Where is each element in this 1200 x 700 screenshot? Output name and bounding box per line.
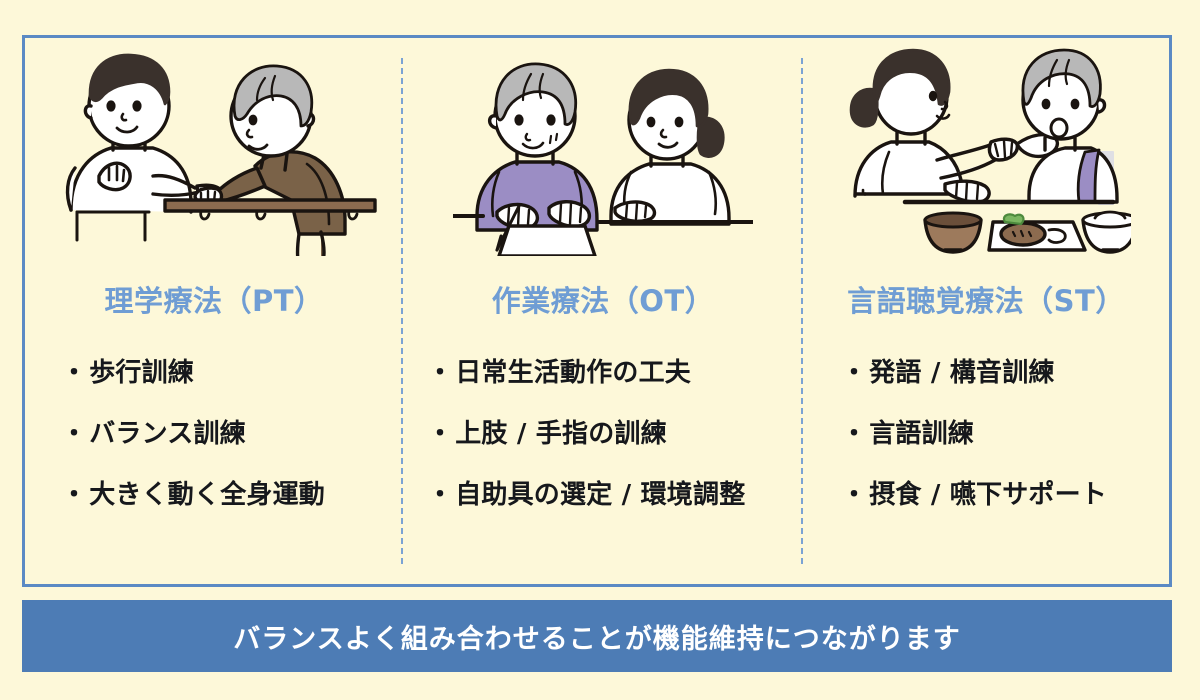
list-item: ・ 日常生活動作の工夫 [427,352,803,389]
physical-therapy-parallel-bars-illustration [25,38,403,256]
list-item-label: 摂食 / 嚥下サポート [869,474,1107,511]
list-item: ・ 歩行訓練 [61,352,403,389]
list-item-label: 言語訓練 [869,413,974,450]
list-item-label: 日常生活動作の工夫 [455,352,691,389]
list-item: ・ 言語訓練 [841,413,1169,450]
column-physical-therapy: 理学療法（PT） ・ 歩行訓練 ・ バランス訓練 ・ 大きく動く全身運動 [25,38,403,584]
list-item: ・ 摂食 / 嚥下サポート [841,474,1169,511]
bullet-list-st: ・ 発語 / 構音訓練 ・ 言語訓練 ・ 摂食 / 嚥下サポート [803,352,1169,511]
column-title-st: 言語聴覚療法（ST） [847,278,1125,320]
bullet-marker-icon: ・ [841,360,867,386]
column-title-pt: 理学療法（PT） [104,278,323,320]
bullet-marker-icon: ・ [427,360,453,386]
list-item-label: 大きく動く全身運動 [89,474,325,511]
list-item: ・ 大きく動く全身運動 [61,474,403,511]
occupational-therapy-writing-illustration [403,38,803,256]
bullet-list-ot: ・ 日常生活動作の工夫 ・ 上肢 / 手指の訓練 ・ 自助具の選定 / 環境調整 [403,352,803,511]
column-occupational-therapy: 作業療法（OT） ・ 日常生活動作の工夫 ・ 上肢 / 手指の訓練 ・ 自助具の… [403,38,803,584]
bullet-marker-icon: ・ [841,421,867,447]
bullet-marker-icon: ・ [427,421,453,447]
summary-banner-text: バランスよく組み合わせることが機能維持につながります [233,617,960,656]
bullet-marker-icon: ・ [427,482,453,508]
therapy-types-infographic: 理学療法（PT） ・ 歩行訓練 ・ バランス訓練 ・ 大きく動く全身運動 [0,0,1200,700]
bullet-marker-icon: ・ [61,421,87,447]
bullet-marker-icon: ・ [841,482,867,508]
list-item-label: 自助具の選定 / 環境調整 [455,474,745,511]
speech-therapy-feeding-illustration [803,38,1169,256]
bullet-marker-icon: ・ [61,482,87,508]
list-item-label: 上肢 / 手指の訓練 [455,413,667,450]
list-item: ・ 上肢 / 手指の訓練 [427,413,803,450]
list-item: ・ 発語 / 構音訓練 [841,352,1169,389]
list-item: ・ 自助具の選定 / 環境調整 [427,474,803,511]
column-speech-therapy: 言語聴覚療法（ST） ・ 発語 / 構音訓練 ・ 言語訓練 ・ 摂食 / 嚥下サ… [803,38,1169,584]
therapy-card: 理学療法（PT） ・ 歩行訓練 ・ バランス訓練 ・ 大きく動く全身運動 [22,35,1172,587]
bullet-marker-icon: ・ [61,360,87,386]
list-item-label: 発語 / 構音訓練 [869,352,1054,389]
bullet-list-pt: ・ 歩行訓練 ・ バランス訓練 ・ 大きく動く全身運動 [25,352,403,511]
summary-banner: バランスよく組み合わせることが機能維持につながります [22,600,1172,672]
list-item: ・ バランス訓練 [61,413,403,450]
column-title-ot: 作業療法（OT） [492,278,714,320]
list-item-label: 歩行訓練 [89,352,194,389]
list-item-label: バランス訓練 [89,413,246,450]
